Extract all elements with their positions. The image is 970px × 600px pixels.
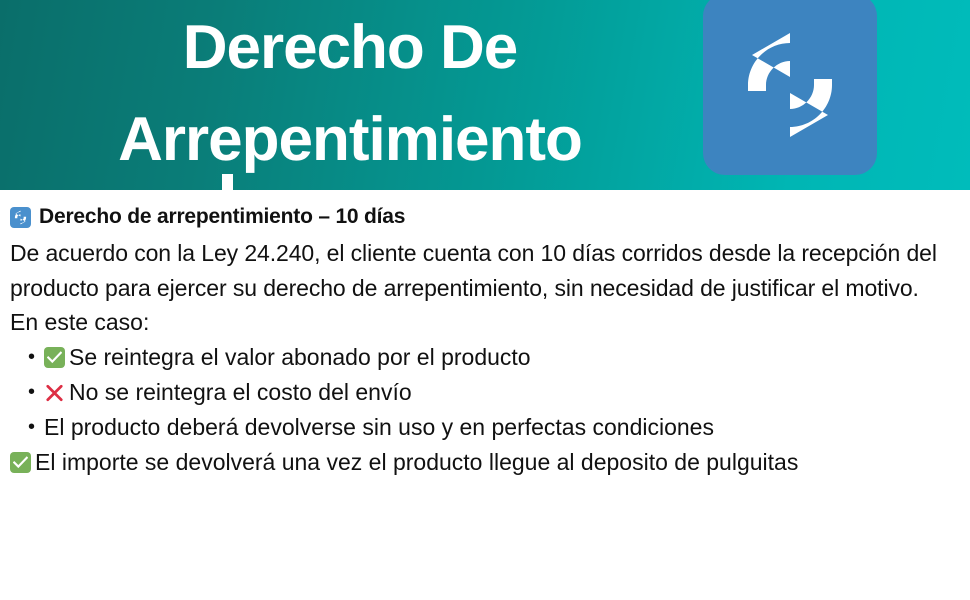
- list-item: El importe se devolverá una vez el produ…: [10, 445, 960, 480]
- page-title: Derecho De Arrepentimiento: [0, 2, 700, 186]
- list-item-text: El importe se devolverá una vez el produ…: [35, 449, 798, 475]
- policy-heading-row: Derecho de arrepentimiento – 10 días: [0, 190, 970, 230]
- policy-heading-text: Derecho de arrepentimiento – 10 días: [39, 204, 405, 230]
- list-item: No se reintegra el costo del envío: [44, 375, 960, 410]
- refresh-arrows-icon: [10, 207, 31, 228]
- policy-content: Derecho de arrepentimiento – 10 días De …: [0, 190, 970, 480]
- header-banner: Derecho De Arrepentimiento: [0, 0, 970, 190]
- check-mark-button-icon: [10, 452, 31, 473]
- cross-mark-icon: [44, 382, 65, 403]
- refund-policy-page: Derecho De Arrepentimiento: [0, 0, 970, 600]
- policy-paragraph: De acuerdo con la Ley 24.240, el cliente…: [0, 230, 970, 305]
- list-item-text: El producto deberá devolverse sin uso y …: [44, 414, 714, 440]
- banner-notch: [222, 174, 233, 190]
- list-item: El producto deberá devolverse sin uso y …: [44, 410, 960, 445]
- list-item-text: No se reintegra el costo del envío: [69, 379, 412, 405]
- list-item-text: Se reintegra el valor abonado por el pro…: [69, 344, 531, 370]
- policy-intro: En este caso:: [0, 305, 970, 340]
- list-item: Se reintegra el valor abonado por el pro…: [44, 340, 960, 375]
- check-mark-button-icon: [44, 347, 65, 368]
- refresh-arrows-icon: [703, 0, 877, 175]
- policy-bullet-list: Se reintegra el valor abonado por el pro…: [0, 340, 970, 480]
